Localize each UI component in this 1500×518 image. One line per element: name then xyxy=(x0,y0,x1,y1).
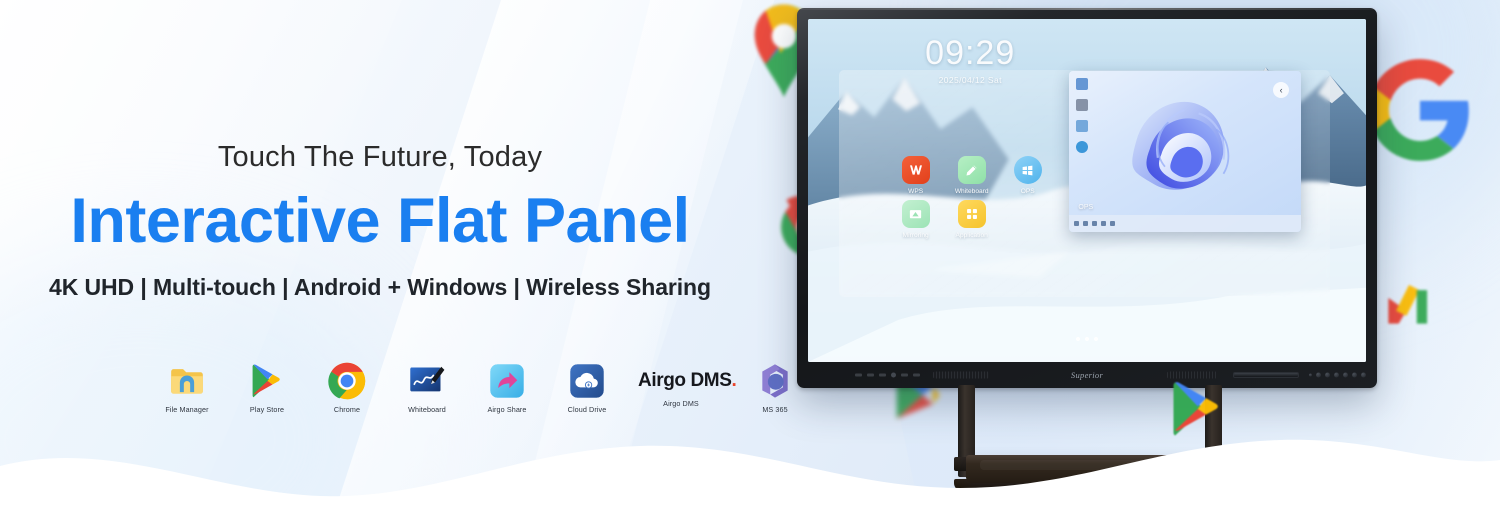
gmail-icon xyxy=(1378,272,1440,334)
app-label: Chrome xyxy=(318,406,376,414)
launcher-label: Application xyxy=(948,232,996,239)
control-key[interactable] xyxy=(1352,373,1357,378)
google-g-icon xyxy=(1368,58,1472,162)
page-dot[interactable] xyxy=(1076,337,1080,341)
play-store-icon xyxy=(248,362,286,400)
app-strip: File Manager Play Store xyxy=(158,362,804,414)
panel-screen[interactable]: 09:29 2025/04/12 Sat WPS Whitebo xyxy=(808,19,1366,362)
windows-preview-window[interactable]: OPS ‹ xyxy=(1069,71,1301,232)
launcher-label: WPS xyxy=(892,188,940,195)
launcher-item-ops[interactable]: OPS xyxy=(1004,156,1052,195)
clock-date: 2025/04/12 Sat xyxy=(925,75,1015,85)
page-dot[interactable] xyxy=(1094,337,1098,341)
interactive-flat-panel: 09:29 2025/04/12 Sat WPS Whitebo xyxy=(797,8,1377,388)
taskbar-icons xyxy=(1069,221,1115,226)
app-item-ms365[interactable]: MS 365 xyxy=(746,362,804,414)
cloud-drive-icon xyxy=(568,362,606,400)
app-item-airgo-share[interactable]: Airgo Share xyxy=(478,362,536,414)
bezel-ports xyxy=(855,373,920,378)
whiteboard-pencil-icon xyxy=(958,156,986,184)
app-label: MS 365 xyxy=(746,406,804,414)
brand-logo: Superior xyxy=(1071,370,1103,380)
ms365-icon xyxy=(756,362,794,400)
camera-icon xyxy=(891,373,896,378)
bezel-control-keys[interactable] xyxy=(1309,373,1366,378)
promo-banner: Touch The Future, Today Interactive Flat… xyxy=(0,0,1500,518)
taskbar-icon[interactable] xyxy=(1110,221,1115,226)
app-label: Airgo DMS xyxy=(638,400,724,408)
control-key[interactable] xyxy=(1325,373,1330,378)
port xyxy=(901,374,908,377)
windows-bloom-wallpaper xyxy=(1106,78,1291,220)
pen-tray-slot xyxy=(1233,372,1299,378)
page-dot[interactable] xyxy=(1085,337,1089,341)
desktop-icon[interactable] xyxy=(1076,78,1088,90)
clock-widget: 09:29 2025/04/12 Sat xyxy=(925,36,1015,85)
desktop-icon[interactable] xyxy=(1076,141,1088,153)
port xyxy=(879,374,886,377)
desktop-icon[interactable] xyxy=(1076,120,1088,132)
app-label: Whiteboard xyxy=(398,406,456,414)
feature-list: 4K UHD | Multi-touch | Android + Windows… xyxy=(0,274,760,301)
launcher-label: OPS xyxy=(1004,188,1052,195)
app-item-chrome[interactable]: Chrome xyxy=(318,362,376,414)
port xyxy=(855,374,862,377)
speaker-grille-right xyxy=(1167,372,1217,379)
port xyxy=(867,374,874,377)
airgo-share-icon xyxy=(488,362,526,400)
app-item-airgo-dms[interactable]: Airgo DMS. Airgo DMS xyxy=(638,362,724,408)
app-item-cloud-drive[interactable]: Cloud Drive xyxy=(558,362,616,414)
control-key[interactable] xyxy=(1316,373,1321,378)
airgo-dms-dot: . xyxy=(732,370,737,391)
windows-ops-icon xyxy=(1014,156,1042,184)
launcher-label: Mirroring xyxy=(892,232,940,239)
control-key[interactable] xyxy=(1343,373,1348,378)
launcher-item-whiteboard[interactable]: Whiteboard xyxy=(948,156,996,195)
wps-icon xyxy=(902,156,930,184)
airgo-dms-text: Airgo DMS xyxy=(638,370,732,391)
windows-taskbar[interactable] xyxy=(1069,215,1301,233)
launcher-item-wps[interactable]: WPS xyxy=(892,156,940,195)
bottom-wave-decoration xyxy=(0,426,1500,518)
chrome-icon xyxy=(328,362,366,400)
launcher-app-grid: WPS Whiteboard OPS xyxy=(892,156,1052,239)
app-grid-icon xyxy=(958,200,986,228)
launcher-item-mirroring[interactable]: Mirroring xyxy=(892,200,940,239)
taskbar-icon[interactable] xyxy=(1083,221,1088,226)
app-label: Cloud Drive xyxy=(558,406,616,414)
launcher-item-application[interactable]: Application xyxy=(948,200,996,239)
app-label: Airgo Share xyxy=(478,406,536,414)
launcher-label: Whiteboard xyxy=(948,188,996,195)
airgo-dms-wordmark: Airgo DMS. xyxy=(638,362,724,400)
app-label: Play Store xyxy=(238,406,296,414)
app-item-whiteboard[interactable]: Whiteboard xyxy=(398,362,456,414)
window-title: OPS xyxy=(1078,204,1093,211)
panel-bezel: 09:29 2025/04/12 Sat WPS Whitebo xyxy=(797,8,1377,388)
control-key[interactable] xyxy=(1334,373,1339,378)
page-title: Interactive Flat Panel xyxy=(0,188,760,254)
clock-time: 09:29 xyxy=(925,36,1015,70)
taskbar-icon[interactable] xyxy=(1074,221,1079,226)
eyebrow-text: Touch The Future, Today xyxy=(0,142,760,174)
taskbar-icon[interactable] xyxy=(1092,221,1097,226)
app-item-play-store[interactable]: Play Store xyxy=(238,362,296,414)
power-button[interactable] xyxy=(1361,373,1366,378)
page-indicator-dots[interactable] xyxy=(1076,337,1098,341)
screen-mirroring-icon xyxy=(902,200,930,228)
app-item-file-manager[interactable]: File Manager xyxy=(158,362,216,414)
speaker-grille-left xyxy=(933,372,989,379)
desktop-icon[interactable] xyxy=(1076,99,1088,111)
app-label: File Manager xyxy=(158,406,216,414)
file-manager-icon xyxy=(168,362,206,400)
control-key[interactable] xyxy=(1309,374,1312,377)
whiteboard-icon xyxy=(408,362,446,400)
port xyxy=(913,374,920,377)
taskbar-icon[interactable] xyxy=(1101,221,1106,226)
hero-copy: Touch The Future, Today Interactive Flat… xyxy=(0,142,760,301)
windows-desktop-icons xyxy=(1076,78,1088,153)
